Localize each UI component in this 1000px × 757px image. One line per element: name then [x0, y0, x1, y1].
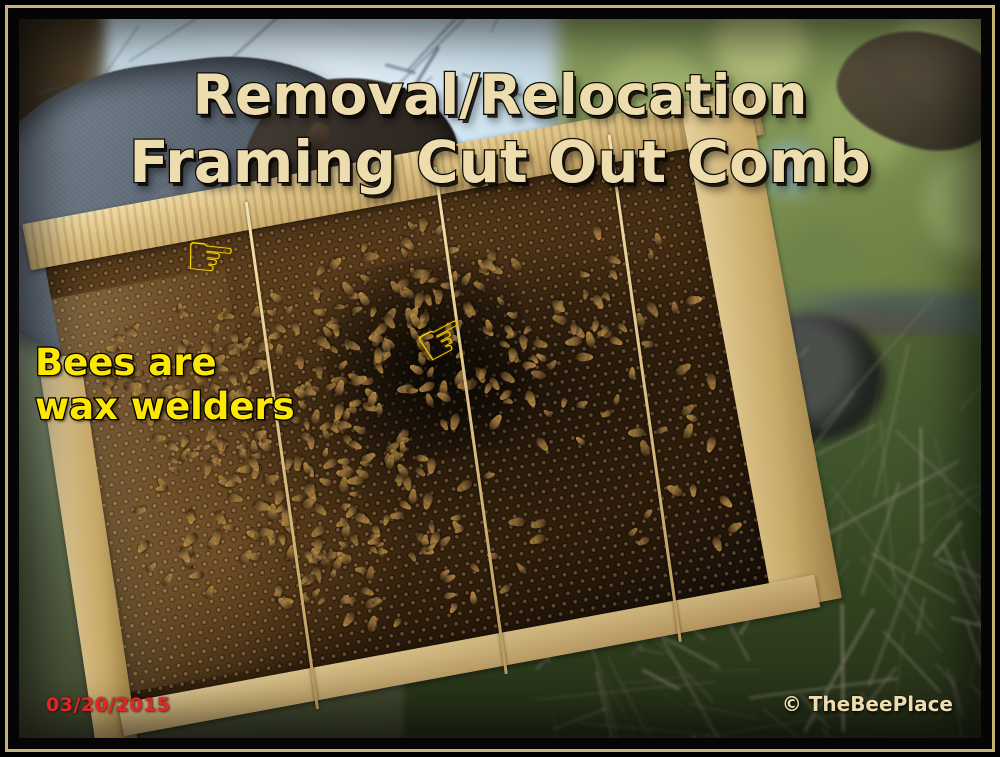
- honey-bee: [583, 289, 590, 300]
- twig-stroke: [709, 670, 760, 672]
- honey-bee: [483, 472, 496, 480]
- pointer-at-frame-bar-icon: ☞: [181, 226, 239, 289]
- honey-bee: [469, 561, 481, 573]
- honey-bee: [727, 521, 744, 535]
- branch-stroke: [490, 19, 519, 33]
- honey-bee: [414, 466, 427, 479]
- honey-bee: [608, 268, 619, 281]
- honey-bee: [576, 399, 590, 409]
- honey-bee: [565, 337, 584, 348]
- honey-bee: [642, 340, 656, 348]
- honey-bee: [448, 602, 459, 615]
- honey-bee: [341, 611, 357, 629]
- honey-bee: [423, 492, 435, 511]
- honey-bee: [529, 533, 548, 546]
- honey-bee: [671, 301, 678, 314]
- honey-bee: [349, 492, 359, 497]
- honey-bee: [638, 440, 651, 459]
- honey-bee: [407, 221, 417, 232]
- honey-bee: [585, 331, 597, 349]
- honey-bee: [322, 457, 340, 471]
- honey-bee: [319, 477, 334, 488]
- honey-bee: [262, 474, 280, 486]
- honey-bee: [499, 583, 513, 595]
- honey-bee: [372, 598, 384, 606]
- honey-bee: [592, 224, 602, 241]
- twig-stroke: [579, 722, 711, 736]
- honey-bee: [296, 354, 305, 370]
- honey-bee: [579, 271, 591, 278]
- honey-bee: [685, 296, 703, 307]
- honey-bee: [308, 435, 315, 450]
- date-stamp: 03/20/2015: [46, 694, 171, 716]
- honey-bee: [648, 250, 654, 261]
- honey-bee: [628, 428, 646, 437]
- honey-bee: [642, 508, 654, 520]
- honey-bee: [608, 335, 624, 347]
- honey-bee: [531, 518, 549, 530]
- honey-bee: [535, 436, 551, 454]
- honey-bee: [347, 476, 366, 486]
- honey-bee: [385, 454, 395, 471]
- honey-bee: [516, 563, 528, 575]
- honey-bee: [653, 233, 662, 248]
- copyright-notice: © TheBeePlace: [782, 692, 953, 716]
- honey-bee: [532, 339, 549, 350]
- honey-bee: [471, 592, 478, 606]
- framed-photo: ☞ ☞ Removal/Relocation Framing Cut Out C…: [0, 0, 1000, 757]
- honey-bee: [316, 365, 322, 379]
- honey-bee: [718, 493, 735, 509]
- honey-bee: [606, 254, 622, 266]
- honey-bee: [552, 314, 570, 327]
- honey-bee: [707, 372, 718, 391]
- honey-bee: [509, 518, 527, 527]
- honey-bee: [408, 550, 418, 562]
- honey-bee: [392, 616, 403, 628]
- twig-stroke: [970, 683, 981, 718]
- honey-bee: [613, 394, 621, 406]
- honey-bee: [427, 457, 436, 474]
- honey-bee: [327, 256, 344, 272]
- honey-bee: [705, 435, 718, 453]
- honey-bee: [277, 410, 293, 428]
- honey-bee: [242, 371, 249, 383]
- twig-stroke: [595, 671, 627, 738]
- honey-bee: [712, 536, 724, 553]
- honey-bee: [279, 533, 287, 546]
- twig-stroke: [689, 703, 759, 720]
- honey-bee: [602, 291, 612, 303]
- honey-bee: [601, 410, 614, 420]
- honey-bee: [655, 425, 668, 435]
- honey-bee: [377, 548, 389, 555]
- honey-bee: [561, 397, 568, 409]
- honey-bee: [269, 292, 285, 306]
- honey-bee: [353, 511, 372, 526]
- honey-bee: [547, 359, 559, 372]
- honey-bee: [304, 419, 311, 430]
- honey-bee: [645, 299, 661, 317]
- honey-bee: [350, 533, 361, 547]
- honey-bee: [338, 540, 350, 550]
- twig-stroke: [553, 707, 608, 729]
- honey-bee: [317, 595, 328, 606]
- honey-bee: [360, 586, 375, 598]
- honey-bee: [576, 353, 594, 362]
- honey-bee: [419, 216, 428, 233]
- honey-bee: [628, 367, 635, 380]
- honey-bee: [311, 409, 322, 426]
- honey-bee: [362, 252, 379, 260]
- honey-bee: [637, 536, 652, 548]
- honey-bee: [390, 512, 406, 521]
- honey-bee: [284, 304, 295, 315]
- honey-bee: [297, 399, 308, 411]
- honey-bee: [266, 309, 278, 318]
- honey-bee: [409, 489, 418, 506]
- honey-bee: [443, 592, 456, 600]
- honey-bee: [322, 447, 330, 459]
- branch-stroke: [232, 19, 321, 58]
- honey-bee: [455, 478, 474, 495]
- honey-bee: [666, 483, 685, 499]
- honey-bee: [542, 409, 553, 419]
- honey-bee: [276, 344, 283, 358]
- honey-bee: [365, 565, 375, 581]
- twig-stroke: [920, 427, 923, 543]
- honey-bee: [682, 422, 695, 440]
- honey-bee: [291, 320, 302, 335]
- branch-stroke: [394, 19, 483, 89]
- honey-bee: [367, 615, 379, 634]
- branch-stroke: [129, 19, 207, 62]
- honey-bee: [575, 436, 587, 447]
- honey-bee: [690, 484, 697, 498]
- honey-bee: [313, 502, 329, 518]
- honey-bee: [617, 322, 630, 335]
- honey-bee: [628, 527, 640, 538]
- photograph: ☞ ☞ Removal/Relocation Framing Cut Out C…: [19, 19, 981, 738]
- glove-thumb: [305, 120, 332, 150]
- honey-bee: [674, 362, 693, 378]
